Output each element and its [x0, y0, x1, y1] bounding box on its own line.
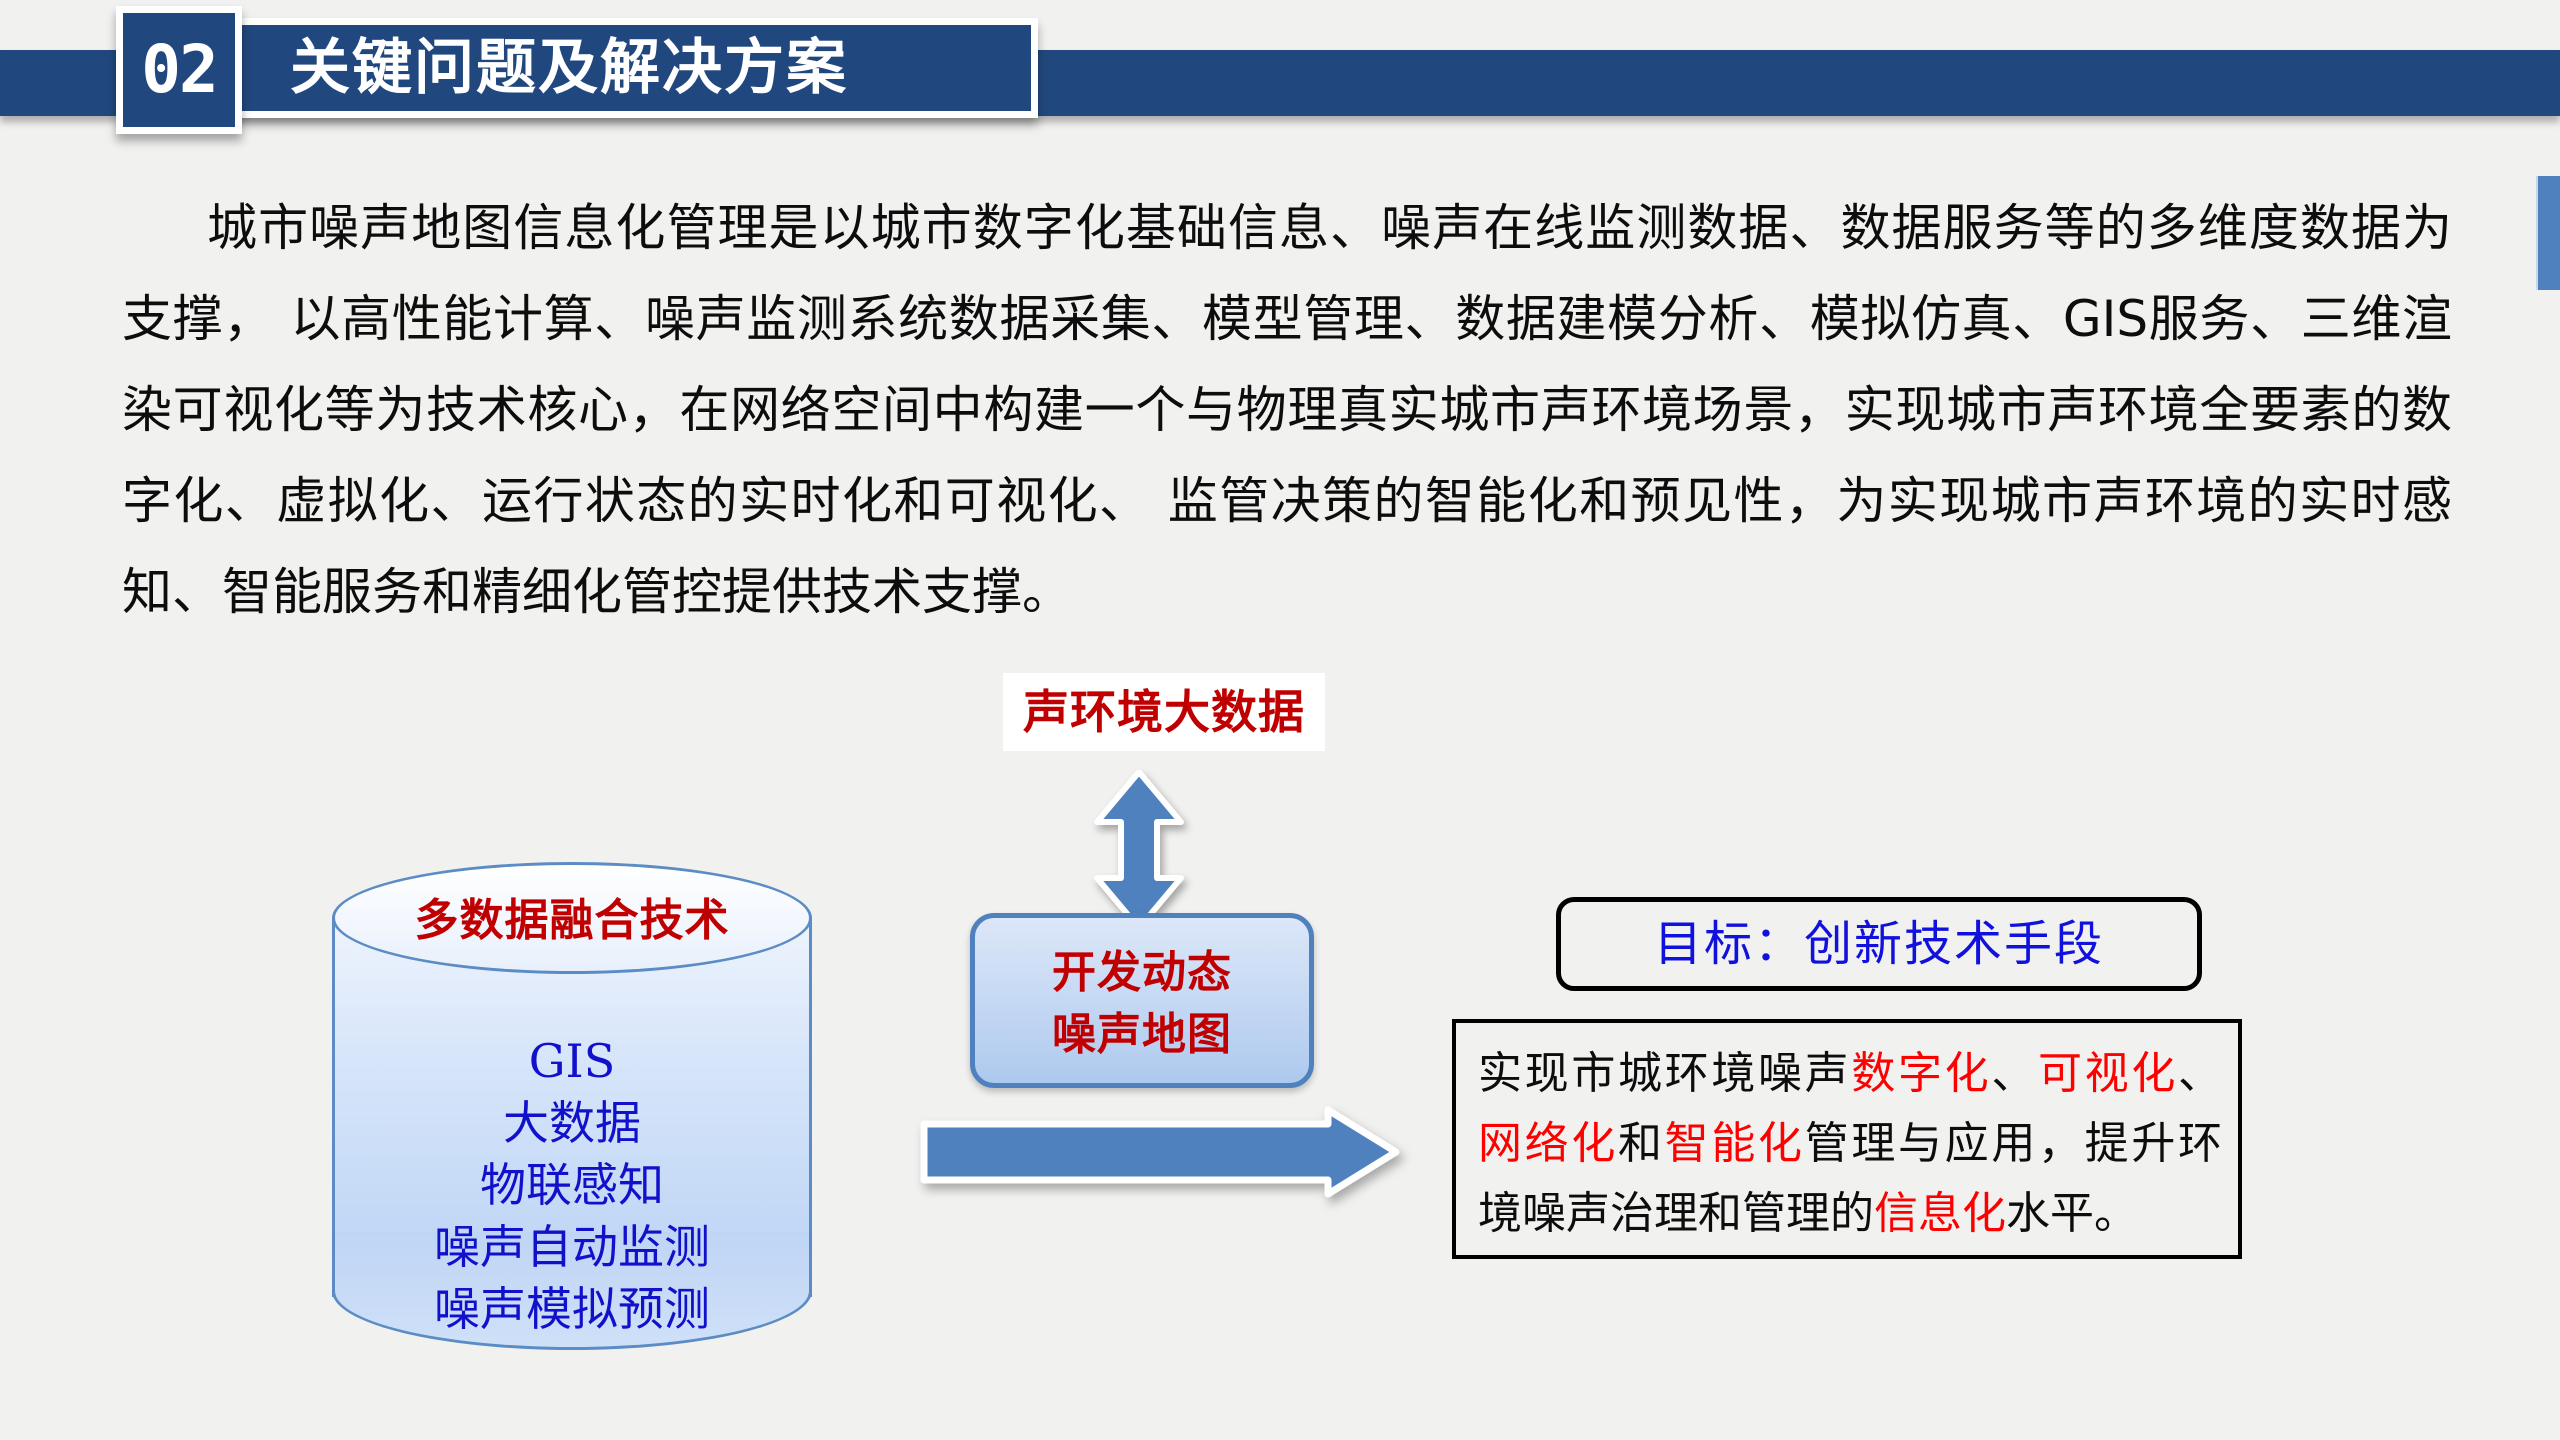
dev-box-line-2: 噪声地图	[975, 1004, 1309, 1066]
cylinder-item: GIS	[332, 1030, 812, 1092]
cylinder-title: 多数据融合技术	[332, 884, 812, 948]
description-highlight: 数字化	[1851, 1048, 1991, 1099]
double-headed-vertical-arrow-icon	[1093, 770, 1185, 930]
dynamic-noise-map-label: 开发动态 噪声地图	[975, 942, 1309, 1066]
target-pill-label: 目标：创新技术手段	[1561, 902, 2197, 986]
cylinder-item: 大数据	[332, 1092, 812, 1154]
description-highlight: 网络化	[1478, 1118, 1618, 1169]
body-paragraph-text: 城市噪声地图信息化管理是以城市数字化基础信息、噪声在线监测数据、数据服务等的多维…	[122, 199, 2452, 621]
description-highlight: 可视化	[2038, 1048, 2178, 1099]
bigdata-label: 声环境大数据	[1003, 673, 1325, 751]
section-number: 02	[123, 13, 235, 127]
section-number-plate: 02	[116, 6, 242, 134]
description-box: 实现市城环境噪声数字化、可视化、网络化和智能化管理与应用，提升环境噪声治理和管理…	[1452, 1019, 2242, 1259]
body-paragraph: 城市噪声地图信息化管理是以城市数字化基础信息、噪声在线监测数据、数据服务等的多维…	[122, 183, 2452, 638]
description-plain: 、	[2178, 1048, 2222, 1099]
description-plain: 实现市城环境噪声	[1478, 1048, 1851, 1099]
cylinder-item: 物联感知	[332, 1154, 812, 1216]
dev-box-line-1: 开发动态	[975, 942, 1309, 1004]
data-fusion-cylinder: 多数据融合技术 GIS 大数据 物联感知 噪声自动监测 噪声模拟预测	[332, 862, 812, 1352]
right-arrow-icon	[920, 1106, 1400, 1198]
description-highlight: 信息化	[1874, 1188, 2006, 1239]
target-pill: 目标：创新技术手段	[1556, 897, 2202, 991]
cylinder-item-list: GIS 大数据 物联感知 噪声自动监测 噪声模拟预测	[332, 1030, 812, 1340]
right-accent-bar	[2536, 176, 2560, 290]
page-title: 关键问题及解决方案	[290, 16, 910, 120]
cylinder-item: 噪声模拟预测	[332, 1278, 812, 1340]
cylinder-item: 噪声自动监测	[332, 1216, 812, 1278]
description-plain: 和	[1618, 1118, 1665, 1169]
description-highlight: 智能化	[1665, 1118, 1805, 1169]
slide-canvas: 关键问题及解决方案 02 城市噪声地图信息化管理是以城市数字化基础信息、噪声在线…	[0, 0, 2560, 1440]
description-text: 实现市城环境噪声数字化、可视化、网络化和智能化管理与应用，提升环境噪声治理和管理…	[1478, 1039, 2222, 1249]
description-plain: 、	[1991, 1048, 2038, 1099]
dynamic-noise-map-box: 开发动态 噪声地图	[970, 913, 1314, 1088]
description-plain: 水平。	[2006, 1188, 2138, 1239]
